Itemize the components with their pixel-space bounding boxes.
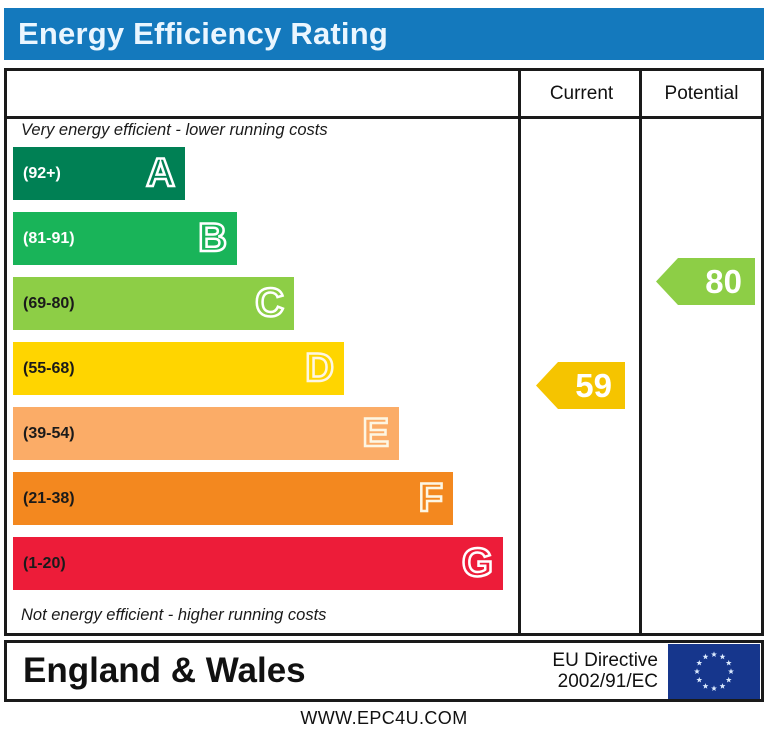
- band-range-label: (81-91): [13, 230, 75, 248]
- band-letter: E: [362, 413, 389, 453]
- column-divider-left: [518, 71, 521, 633]
- band-d: (55-68)D: [13, 342, 344, 395]
- band-range-label: (1-20): [13, 555, 66, 573]
- rating-table: Current Potential Very energy efficient …: [4, 68, 764, 636]
- band-c: (69-80)C: [13, 277, 294, 330]
- column-header-potential: Potential: [642, 71, 761, 116]
- efficiency-note-top: Very energy efficient - lower running co…: [21, 121, 328, 140]
- band-range-label: (92+): [13, 165, 61, 183]
- band-letter: G: [462, 543, 493, 583]
- certificate-footer: England & Wales EU Directive 2002/91/EC: [4, 640, 764, 702]
- footer-directive-line2: 2002/91/EC: [552, 671, 658, 692]
- band-letter: B: [198, 218, 227, 258]
- band-list: (92+)A(81-91)B(69-80)C(55-68)D(39-54)E(2…: [7, 147, 518, 603]
- rating-marker-potential: 80: [656, 258, 755, 305]
- band-b: (81-91)B: [13, 212, 237, 265]
- band-range-label: (39-54): [13, 425, 75, 443]
- band-range-label: (55-68): [13, 360, 75, 378]
- band-e: (39-54)E: [13, 407, 399, 460]
- band-a: (92+)A: [13, 147, 185, 200]
- energy-efficiency-certificate: Energy Efficiency Rating Current Potenti…: [0, 0, 768, 744]
- rating-value-current: 59: [575, 369, 625, 402]
- certificate-header-banner: Energy Efficiency Rating: [4, 8, 764, 60]
- rating-marker-current: 59: [536, 362, 625, 409]
- band-letter: A: [146, 153, 175, 193]
- footer-directive-line1: EU Directive: [552, 650, 658, 671]
- band-g: (1-20)G: [13, 537, 503, 590]
- footer-region-label: England & Wales: [7, 651, 552, 691]
- column-header-row: Current Potential: [7, 71, 761, 119]
- column-divider-right: [639, 71, 642, 633]
- footer-directive: EU Directive 2002/91/EC: [552, 650, 668, 693]
- column-header-current: Current: [521, 71, 642, 116]
- eu-flag-icon: [668, 644, 760, 699]
- band-letter: F: [419, 478, 443, 518]
- efficiency-note-bottom: Not energy efficient - higher running co…: [21, 606, 326, 625]
- band-chart: Very energy efficient - lower running co…: [7, 119, 518, 633]
- band-letter: D: [305, 348, 334, 388]
- band-range-label: (21-38): [13, 490, 75, 508]
- rating-value-potential: 80: [705, 265, 755, 298]
- band-letter: C: [255, 283, 284, 323]
- band-f: (21-38)F: [13, 472, 453, 525]
- page-title: Energy Efficiency Rating: [4, 16, 388, 52]
- band-range-label: (69-80): [13, 295, 75, 313]
- source-url: WWW.EPC4U.COM: [0, 708, 768, 729]
